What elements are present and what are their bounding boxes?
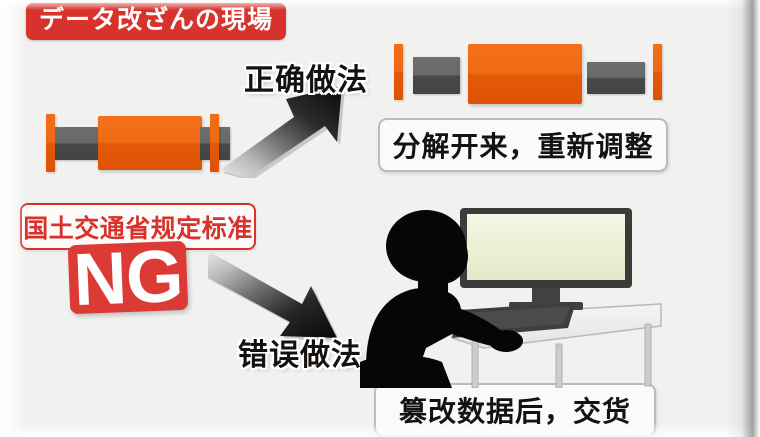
- exploded-shaft-left: [413, 57, 460, 94]
- monitor-screen: [467, 214, 625, 280]
- correct-method-label: 正确做法: [244, 55, 368, 99]
- person-at-computer-illustration: [356, 198, 666, 388]
- desk-leg-right: [645, 324, 651, 386]
- exploded-shaft-right: [587, 62, 645, 94]
- ng-stamp-text: NG: [67, 234, 188, 321]
- roller-assembled-illustration: [40, 112, 240, 174]
- ng-stamp: NG: [68, 241, 189, 314]
- edge-fade-right: [726, 0, 760, 437]
- correct-method-caption: 分解开来，重新调整: [378, 118, 668, 172]
- infographic-canvas: データ改ざんの現場: [0, 0, 760, 437]
- roller-shaft-left: [55, 127, 100, 160]
- desk-leg-left: [556, 344, 562, 388]
- exploded-end-cap-right: [653, 44, 662, 100]
- wrong-method-label: 错误做法: [238, 330, 362, 374]
- roller-exploded-illustration: [394, 38, 666, 106]
- roller-barrel: [98, 116, 202, 170]
- page-title: データ改ざんの現場: [26, 3, 286, 40]
- exploded-end-cap-left: [394, 44, 403, 100]
- wrong-method-caption: 篡改数据后，交货: [374, 383, 656, 437]
- roller-end-cap-left: [46, 114, 55, 172]
- exploded-barrel: [468, 44, 582, 104]
- desk-leg-front: [472, 340, 478, 388]
